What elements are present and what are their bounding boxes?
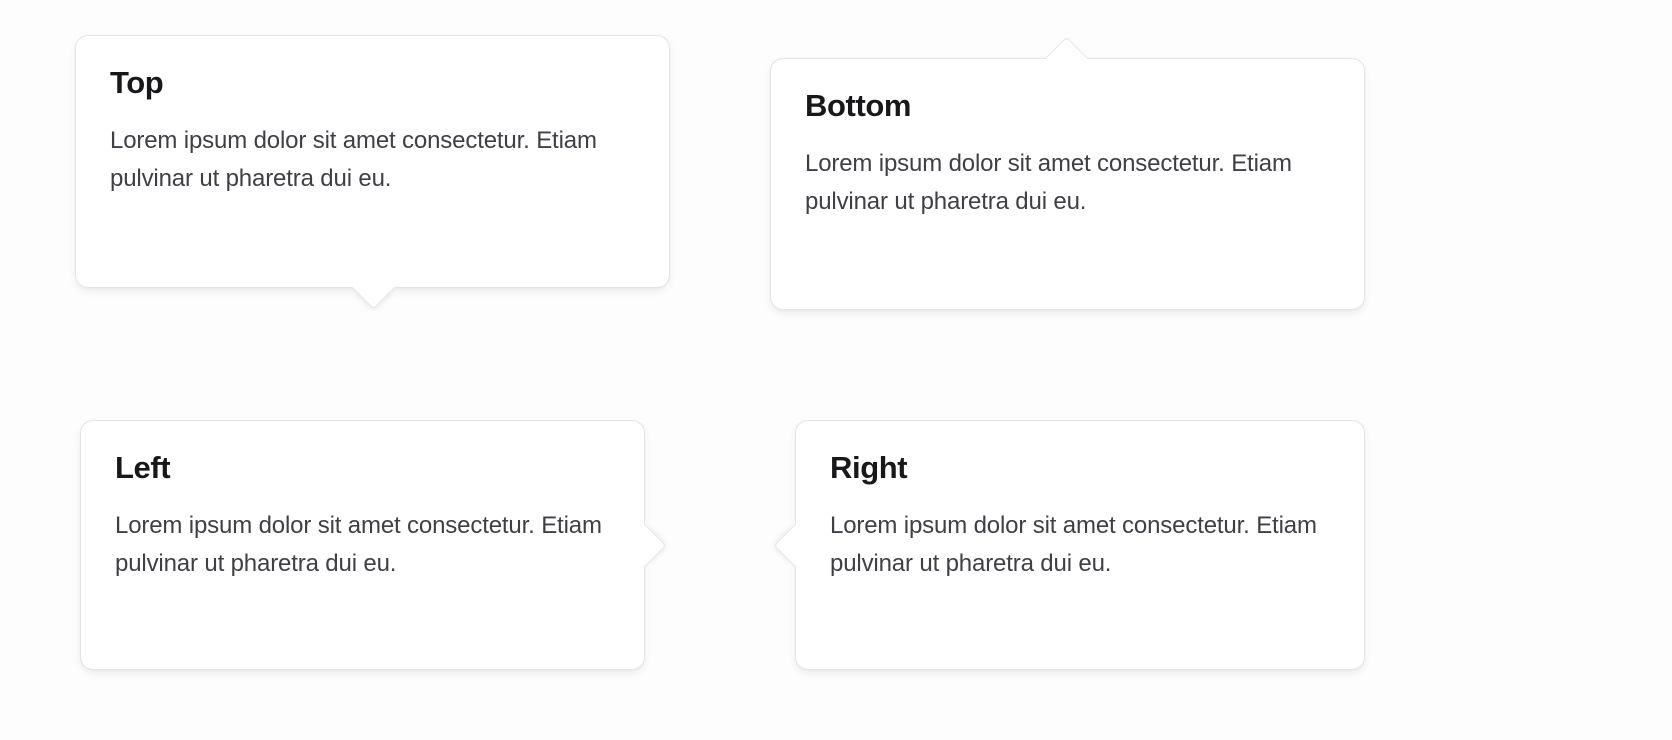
- tooltip-top[interactable]: Top Lorem ipsum dolor sit amet consectet…: [75, 35, 670, 288]
- tooltip-left-title: Left: [115, 451, 610, 486]
- tooltip-left-body: Lorem ipsum dolor sit amet consectetur. …: [115, 507, 610, 583]
- tooltip-right-body: Lorem ipsum dolor sit amet consectetur. …: [830, 507, 1330, 583]
- arrow-right-icon: [623, 524, 667, 568]
- tooltip-showcase: Top Lorem ipsum dolor sit amet consectet…: [0, 0, 1672, 740]
- arrow-up-icon: [1045, 37, 1089, 81]
- tooltip-right[interactable]: Right Lorem ipsum dolor sit amet consect…: [795, 420, 1365, 670]
- tooltip-left[interactable]: Left Lorem ipsum dolor sit amet consecte…: [80, 420, 645, 670]
- tooltip-bottom-title: Bottom: [805, 89, 1330, 124]
- tooltip-bottom[interactable]: Bottom Lorem ipsum dolor sit amet consec…: [770, 58, 1365, 310]
- tooltip-top-body: Lorem ipsum dolor sit amet consectetur. …: [110, 122, 635, 198]
- arrow-left-icon: [774, 524, 818, 568]
- arrow-down-icon: [351, 266, 395, 310]
- tooltip-bottom-body: Lorem ipsum dolor sit amet consectetur. …: [805, 145, 1330, 221]
- tooltip-top-title: Top: [110, 66, 635, 101]
- tooltip-right-title: Right: [830, 451, 1330, 486]
